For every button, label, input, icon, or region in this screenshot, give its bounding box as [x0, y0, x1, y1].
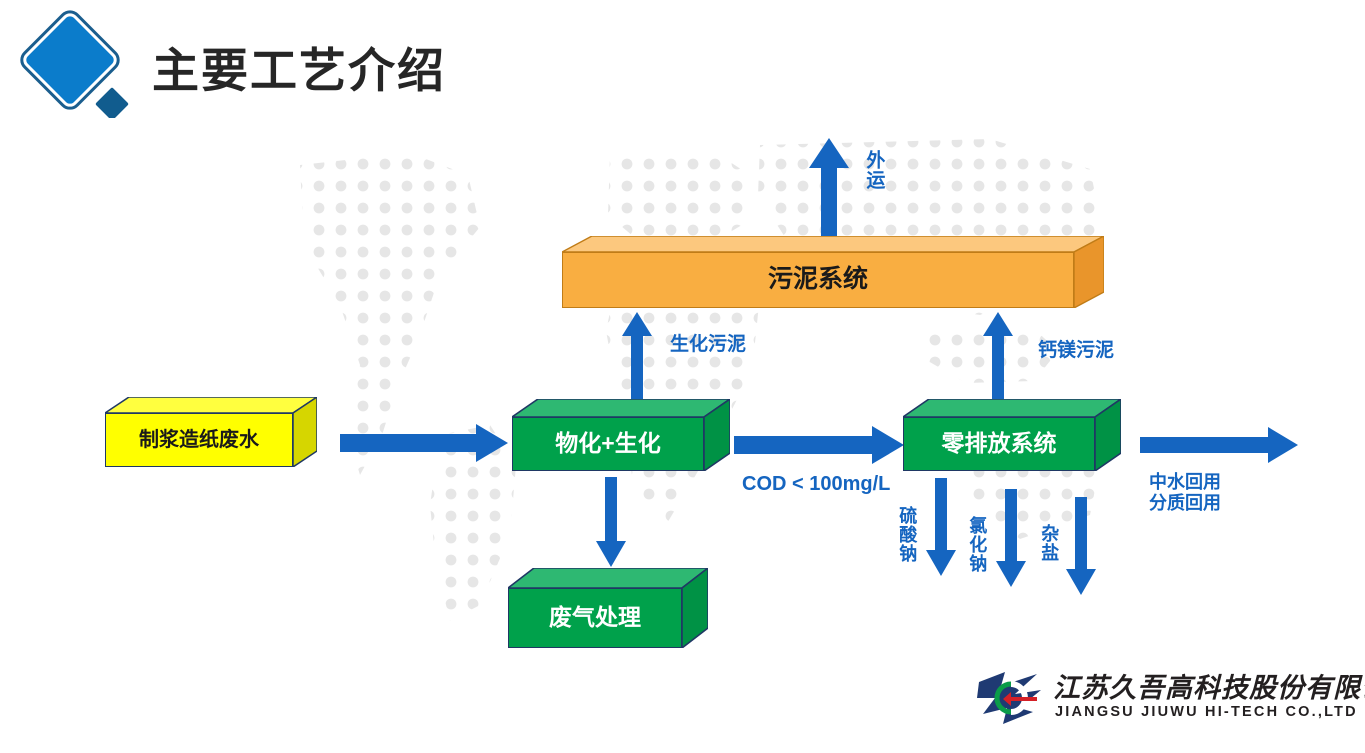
flow-label-mixed-salt: 杂盐 — [1038, 524, 1059, 576]
flow-label-bio-sludge: 生化污泥 — [670, 334, 746, 356]
flow-label-sodium-sulfate: 硫酸钠 — [896, 506, 917, 582]
slide-canvas: 主要工艺介绍 外运 污泥系统 生化污泥 钙镁污泥 制浆造纸废水 — [0, 0, 1365, 753]
flow-label-ca-mg-sludge: 钙镁污泥 — [1038, 340, 1114, 362]
box-label-physico-bio-treatment: 物化+生化 — [555, 431, 660, 456]
box-zero-discharge-system[interactable]: 零排放系统 — [903, 399, 1121, 471]
blue-diamond-logo-icon — [8, 8, 133, 118]
box-label-sludge-system: 污泥系统 — [768, 266, 868, 294]
flow-label-cod: COD < 100mg/L — [742, 473, 890, 497]
arrow-cod-to-zero-discharge — [734, 424, 906, 466]
company-name-cn: 江苏久吾高科技股份有限公司 — [1053, 666, 1365, 705]
page-title: 主要工艺介绍 — [152, 32, 446, 101]
flow-label-reclaimed-water: 中水回用 分质回用 — [1149, 472, 1221, 514]
arrow-sodium-chloride — [994, 489, 1028, 589]
box-label-pulp-paper-wastewater: 制浆造纸废水 — [139, 429, 259, 451]
arrow-transport-out — [806, 136, 852, 248]
arrow-to-waste-gas — [594, 477, 628, 569]
box-physico-bio-treatment[interactable]: 物化+生化 — [512, 399, 730, 471]
arrow-ca-mg-sludge — [981, 310, 1015, 406]
arrow-reclaimed-water — [1140, 424, 1300, 466]
box-sludge-system[interactable]: 污泥系统 — [562, 236, 1104, 308]
flow-label-reclaimed-line1: 中水回用 — [1149, 472, 1221, 493]
company-name-en: JIANGSU JIUWU HI-TECH CO.,LTD — [1055, 704, 1358, 720]
company-logo: 江苏久吾高科技股份有限公司 JIANGSU JIUWU HI-TECH CO.,… — [975, 668, 1360, 736]
box-label-waste-gas-treatment: 废气处理 — [549, 605, 641, 630]
arrow-feed-to-treatment — [340, 422, 510, 464]
arrow-bio-sludge — [620, 310, 654, 406]
flow-label-transport-out: 外运 — [862, 150, 884, 202]
jiuwu-logo-icon — [975, 668, 1047, 728]
arrow-mixed-salt — [1064, 497, 1098, 597]
box-label-zero-discharge-system: 零排放系统 — [942, 431, 1057, 456]
box-pulp-paper-wastewater[interactable]: 制浆造纸废水 — [105, 397, 317, 467]
flow-label-reclaimed-line2: 分质回用 — [1149, 493, 1221, 514]
flow-label-sodium-chloride: 氯化钠 — [966, 516, 987, 592]
box-waste-gas-treatment[interactable]: 废气处理 — [508, 568, 708, 648]
arrow-sodium-sulfate — [924, 478, 958, 578]
